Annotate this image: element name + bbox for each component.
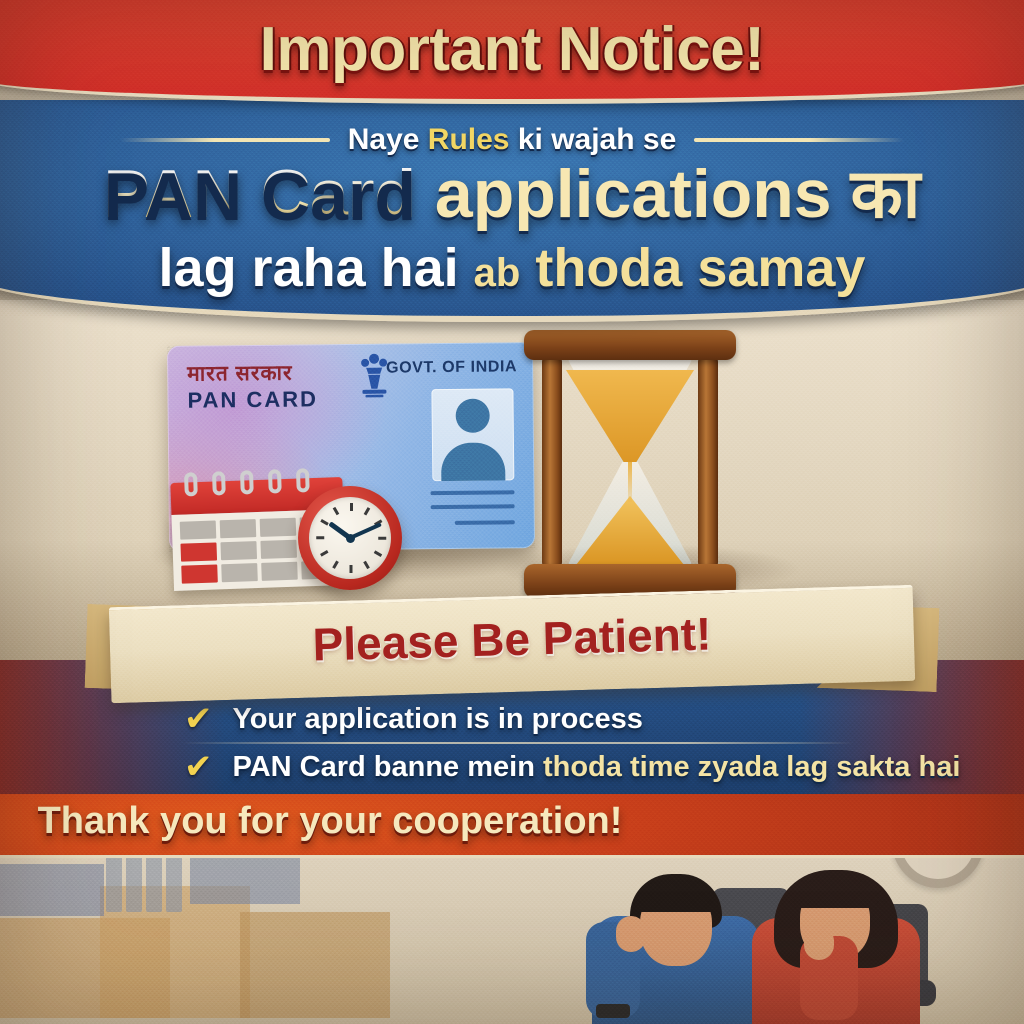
headline-line-1: PAN Card applications का	[0, 160, 1024, 228]
clock-tick	[374, 550, 382, 556]
calendar-ring	[296, 468, 310, 492]
hourglass-post-right	[698, 354, 718, 570]
subtitle-row: Naye Rules ki wajah se	[0, 123, 1024, 157]
hourglass-glass	[566, 356, 694, 568]
clock-tick	[320, 550, 328, 556]
desk-clock-face	[309, 497, 391, 579]
pan-card-label: PAN CARD	[187, 386, 318, 413]
page-title: Important Notice!	[0, 14, 1024, 85]
binder-3	[146, 850, 162, 912]
calendar-ring	[184, 472, 198, 496]
cal-cell	[180, 542, 217, 561]
man-hand	[616, 916, 646, 952]
cal-cell	[180, 520, 217, 539]
pan-card-govt-of-india: GOVT. OF INDIA	[386, 358, 517, 377]
pan-card-hindi-gov: मारत सरकार	[187, 359, 293, 388]
hourglass-icon	[524, 330, 736, 598]
clock-tick	[316, 537, 324, 540]
desk-right	[240, 912, 390, 1018]
clock-tick	[378, 537, 386, 540]
cal-cell	[220, 519, 257, 538]
office-scene	[0, 856, 1024, 1024]
binder-2	[126, 850, 142, 912]
poster-root: Thank you for your cooperation! ✔ Your a…	[0, 0, 1024, 1024]
waiting-woman	[742, 856, 932, 1024]
thanks-text: Thank you for your cooperation!	[0, 800, 660, 843]
cal-cell	[181, 564, 218, 583]
clock-tick	[320, 519, 328, 525]
woman-hand	[804, 926, 834, 960]
cal-cell	[260, 540, 297, 559]
clock-tick	[364, 561, 370, 569]
pan-card-photo	[431, 388, 514, 481]
clock-tick	[333, 561, 339, 569]
calendar-ring	[240, 470, 254, 494]
calendar-ring	[212, 471, 226, 495]
clock-tick	[333, 507, 339, 515]
desk-clock-icon	[298, 486, 402, 590]
box-right	[190, 858, 300, 904]
pan-card-line-3	[455, 520, 515, 525]
hourglass-cap-top	[524, 330, 736, 360]
cal-cell	[221, 563, 258, 582]
clock-tick	[350, 565, 353, 573]
hourglass-sand-top	[566, 370, 694, 462]
person-silhouette-body	[441, 442, 505, 481]
woman-bangs	[794, 880, 878, 908]
calendar-ring	[268, 469, 282, 493]
clock-tick	[350, 503, 353, 511]
person-silhouette-icon	[456, 399, 490, 433]
clock-tick	[364, 507, 370, 515]
man-watch	[596, 1004, 630, 1018]
headline-line-2: lag raha hai ab thoda samay	[0, 237, 1024, 299]
clock-pin	[346, 534, 355, 543]
hourglass-sand-stream	[628, 462, 632, 502]
ashoka-emblem-icon	[353, 352, 396, 404]
pan-card-line-1	[430, 490, 514, 495]
subtitle-text: Naye Rules ki wajah se	[348, 123, 677, 157]
man-hair-front	[634, 882, 718, 912]
pan-card-line-2	[431, 504, 515, 509]
hourglass-post-left	[542, 354, 562, 570]
binder-1	[106, 850, 122, 912]
cal-cell	[261, 562, 298, 581]
bullet-divider	[182, 742, 854, 744]
bullet-item-2: ✔ PAN Card banne mein thoda time zyada l…	[184, 750, 960, 784]
cal-cell	[220, 541, 257, 560]
box-left	[0, 864, 104, 916]
cal-cell	[260, 518, 297, 537]
check-icon: ✔	[184, 750, 213, 784]
rule-right	[694, 138, 904, 142]
bullet-label-2: PAN Card banne mein thoda time zyada lag…	[233, 751, 961, 784]
rule-left	[120, 138, 330, 142]
binder-4	[166, 850, 182, 912]
